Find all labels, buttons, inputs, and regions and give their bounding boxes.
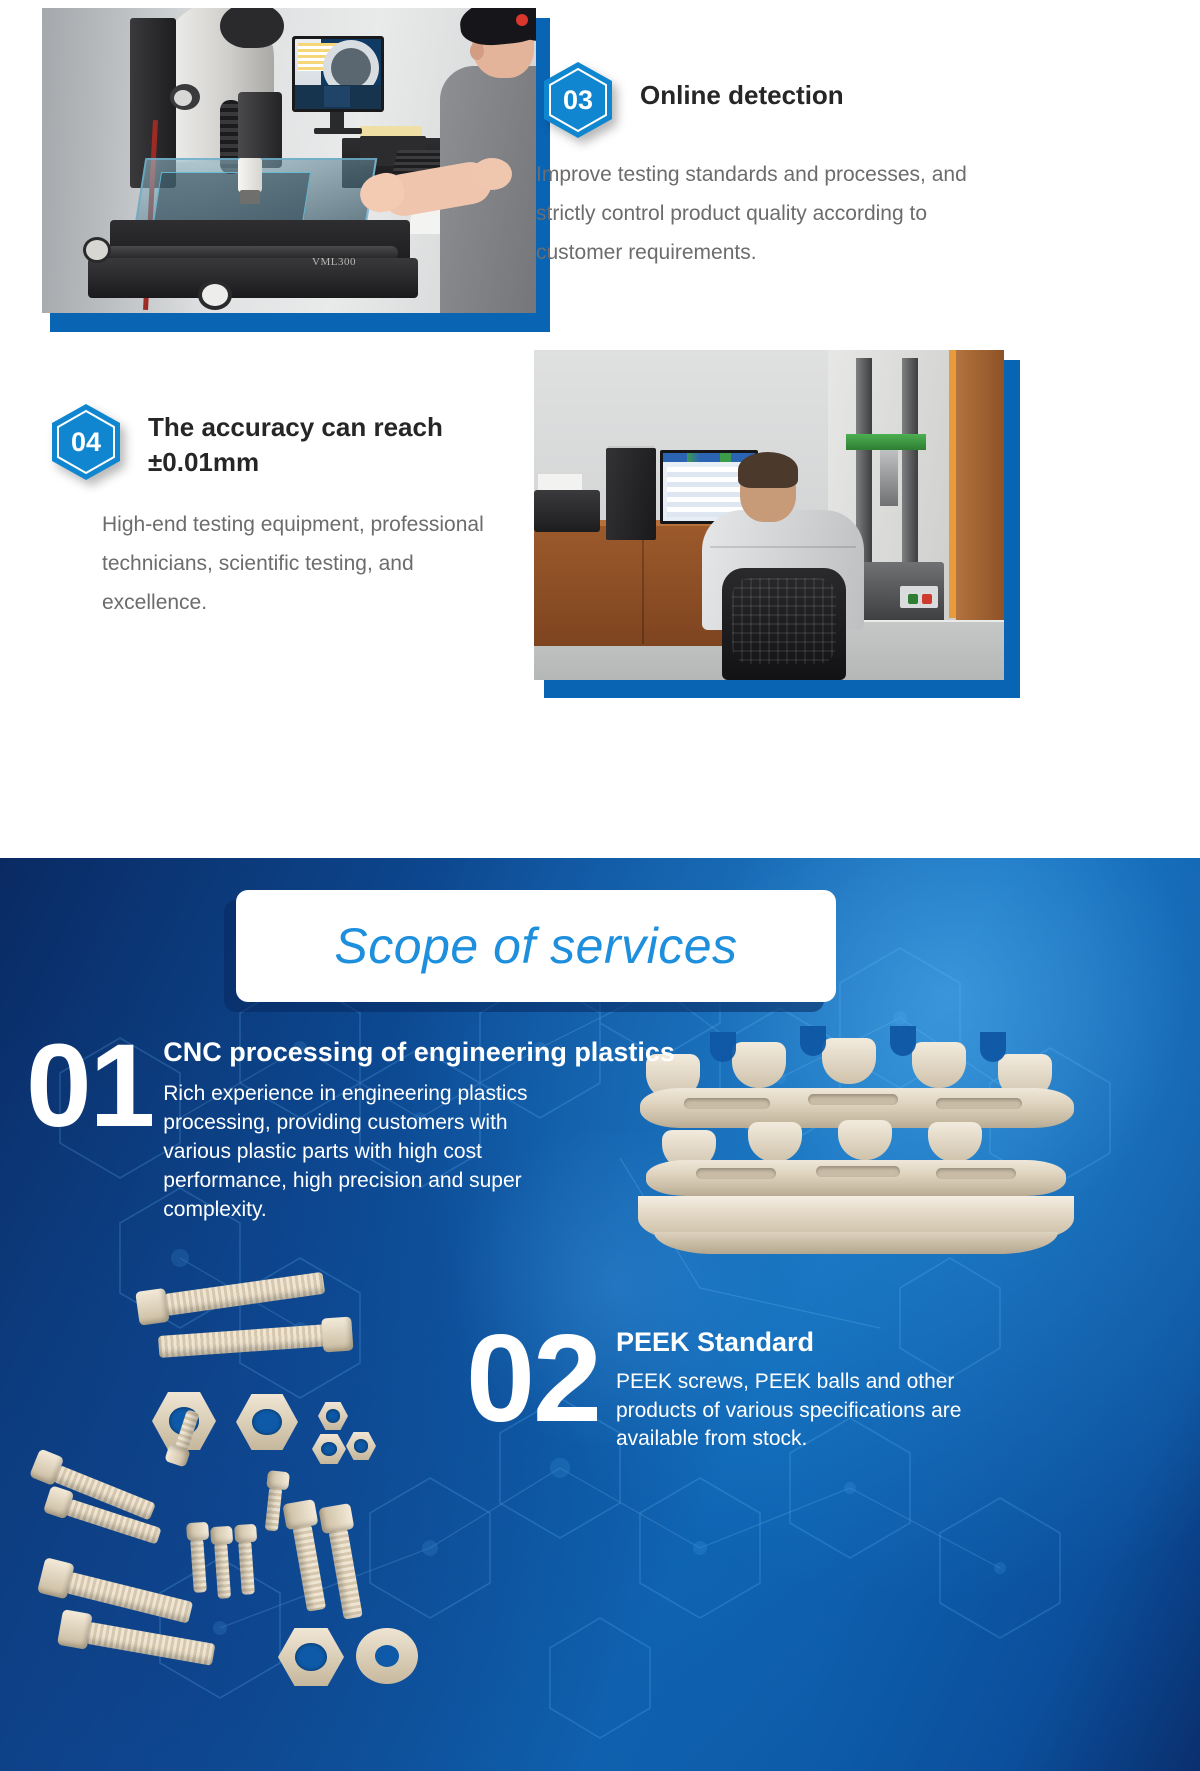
top-section: VML300 03 Online detection Improve te [0, 0, 1200, 858]
feature-item-03: 03 Online detection Improve testing stan… [536, 58, 1016, 273]
online-detection-photo-frame: VML300 [42, 8, 550, 328]
feature-heading-row: 04 The accuracy can reach ±0.01mm [44, 400, 514, 484]
feature-title: The accuracy can reach ±0.01mm [148, 400, 514, 480]
scope-of-services-section: Scope of services [0, 858, 1200, 1771]
banner-title: Scope of services [334, 917, 737, 975]
marketing-page: VML300 03 Online detection Improve te [0, 0, 1200, 1771]
hexagon-badge-icon: 03 [536, 58, 620, 142]
service-item-01: 01 CNC processing of engineering plastic… [26, 1030, 666, 1225]
service-number: 02 [466, 1320, 600, 1454]
service-title: CNC processing of engineering plastics [163, 1036, 675, 1068]
badge-number: 03 [536, 58, 620, 142]
feature-title: Online detection [640, 58, 844, 113]
hexagon-badge-icon: 04 [44, 400, 128, 484]
badge-number: 04 [44, 400, 128, 484]
service-title: PEEK Standard [616, 1326, 996, 1358]
online-detection-photo: VML300 [42, 8, 536, 313]
feature-item-04: 04 The accuracy can reach ±0.01mm High-e… [44, 400, 514, 623]
service-number: 01 [26, 1030, 153, 1225]
accuracy-testing-photo [534, 350, 1004, 680]
service-body: Rich experience in engineering plastics … [163, 1080, 568, 1225]
feature-heading-row: 03 Online detection [536, 58, 1016, 142]
feature-body: High-end testing equipment, professional… [102, 506, 514, 623]
scope-of-services-banner: Scope of services [236, 890, 836, 1002]
machine-model-label: VML300 [312, 256, 356, 268]
service-body: PEEK screws, PEEK balls and other produc… [616, 1368, 996, 1454]
peek-screws-product-image [40, 1276, 460, 1706]
service-item-02: 02 PEEK Standard PEEK screws, PEEK balls… [466, 1320, 1066, 1454]
accuracy-testing-photo-frame [534, 350, 1020, 698]
peek-chain-plate-product-image [636, 1036, 1076, 1296]
feature-body: Improve testing standards and processes,… [536, 156, 1016, 273]
